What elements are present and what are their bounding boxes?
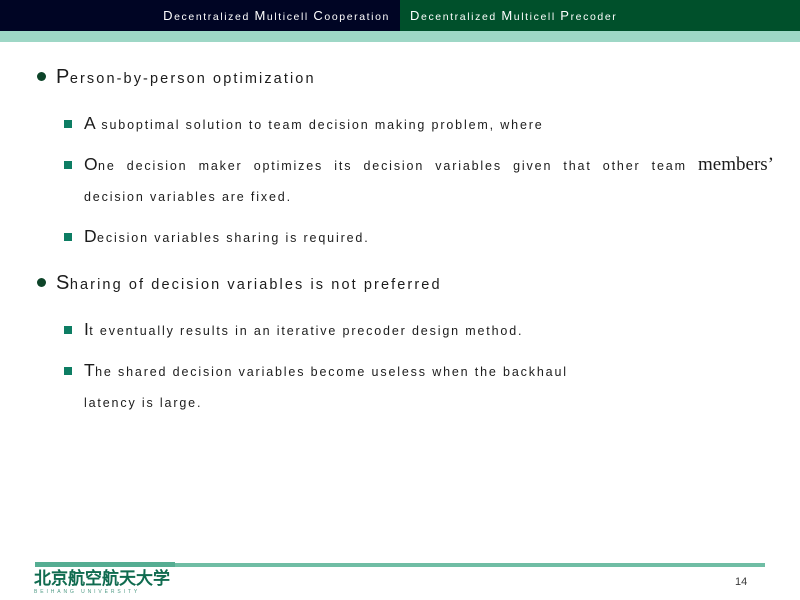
bullet-text: One decision maker optimizes its decisio… bbox=[84, 149, 774, 213]
bullet-text-part2: decision variables are fixed. bbox=[84, 190, 292, 204]
bullet-text: Sharing of decision variables is not pre… bbox=[56, 277, 442, 293]
square-bullet-icon bbox=[64, 326, 72, 334]
slide-header: Decentralized Multicell Cooperation Dece… bbox=[0, 0, 800, 31]
bullet-text: The shared decision variables become use… bbox=[84, 355, 774, 419]
bullet-level2-one-decision-maker: One decision maker optimizes its decisio… bbox=[0, 149, 800, 213]
header-title-right: Decentralized Multicell Precoder bbox=[410, 8, 617, 23]
header-section-right: Decentralized Multicell Precoder bbox=[400, 0, 800, 31]
disc-bullet-icon bbox=[37, 72, 46, 81]
beihang-university-logo: 北京航空航天大学 BEIHANG UNIVERSITY bbox=[34, 570, 184, 596]
bullet-text-line1: The shared decision variables become use… bbox=[84, 355, 774, 388]
bullet-level2-decision-variables-sharing: Decision variables sharing is required. bbox=[0, 221, 800, 254]
bullet-level2-backhaul-latency: The shared decision variables become use… bbox=[0, 355, 800, 419]
bullet-text-line2: latency is large. bbox=[84, 388, 774, 419]
bullet-text-emphasis: members’ bbox=[698, 154, 774, 175]
footer-divider-accent bbox=[35, 562, 175, 567]
header-accent-band bbox=[0, 31, 800, 42]
header-section-left: Decentralized Multicell Cooperation bbox=[0, 0, 400, 31]
logo-english-text: BEIHANG UNIVERSITY bbox=[34, 588, 184, 596]
square-bullet-icon bbox=[64, 120, 72, 128]
bullet-text-part1: One decision maker optimizes its decisio… bbox=[84, 159, 698, 173]
header-title-left: Decentralized Multicell Cooperation bbox=[163, 8, 390, 23]
bullet-text: Decision variables sharing is required. bbox=[84, 221, 774, 254]
square-bullet-icon bbox=[64, 233, 72, 241]
bullet-level1-person-by-person: Person-by-person optimization bbox=[0, 60, 800, 96]
bullet-level2-iterative-precoder: It eventually results in an iterative pr… bbox=[0, 314, 800, 347]
bullet-level1-sharing-not-preferred: Sharing of decision variables is not pre… bbox=[0, 266, 800, 302]
page-number: 14 bbox=[735, 576, 765, 588]
slide-content: Person-by-person optimization A suboptim… bbox=[0, 60, 800, 419]
square-bullet-icon bbox=[64, 161, 72, 169]
bullet-level2-suboptimal-solution: A suboptimal solution to team decision m… bbox=[0, 108, 800, 141]
logo-chinese-text: 北京航空航天大学 bbox=[34, 570, 184, 588]
bullet-text: It eventually results in an iterative pr… bbox=[84, 314, 774, 347]
bullet-text: A suboptimal solution to team decision m… bbox=[84, 108, 774, 141]
bullet-text: Person-by-person optimization bbox=[56, 71, 316, 87]
square-bullet-icon bbox=[64, 367, 72, 375]
disc-bullet-icon bbox=[37, 278, 46, 287]
